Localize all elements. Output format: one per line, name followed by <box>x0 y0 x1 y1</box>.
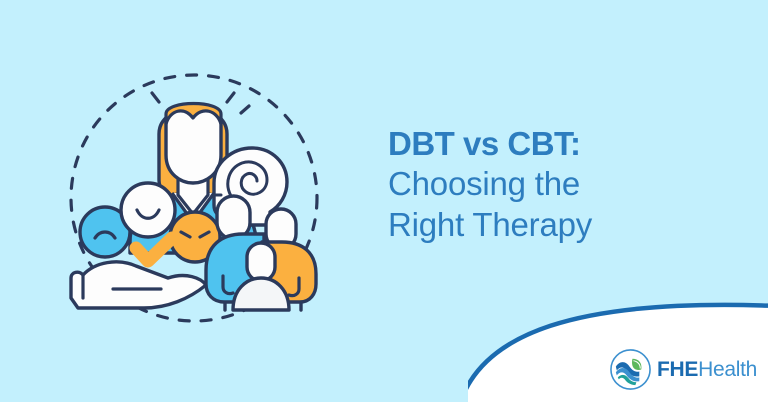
banner-root: DBT vs CBT: Choosing the Right Therapy F… <box>0 0 768 402</box>
therapy-concept-illustration <box>58 62 330 334</box>
fhe-health-wave-leaf-mark-icon <box>609 348 652 391</box>
wordmark-secondary: Health <box>698 358 757 381</box>
fhe-health-logo[interactable]: FHEHealth <box>609 348 757 391</box>
happy-face-icon <box>121 183 175 237</box>
fhe-health-wordmark: FHEHealth <box>657 359 757 380</box>
page-title: DBT vs CBT: Choosing the Right Therapy <box>388 124 718 245</box>
headline-line-3: Right Therapy <box>388 205 718 245</box>
child-head <box>247 243 275 281</box>
wordmark-primary: FHE <box>657 358 698 381</box>
headline-line-1: DBT vs CBT: <box>388 124 718 164</box>
headline-line-2: Choosing the <box>388 164 718 204</box>
